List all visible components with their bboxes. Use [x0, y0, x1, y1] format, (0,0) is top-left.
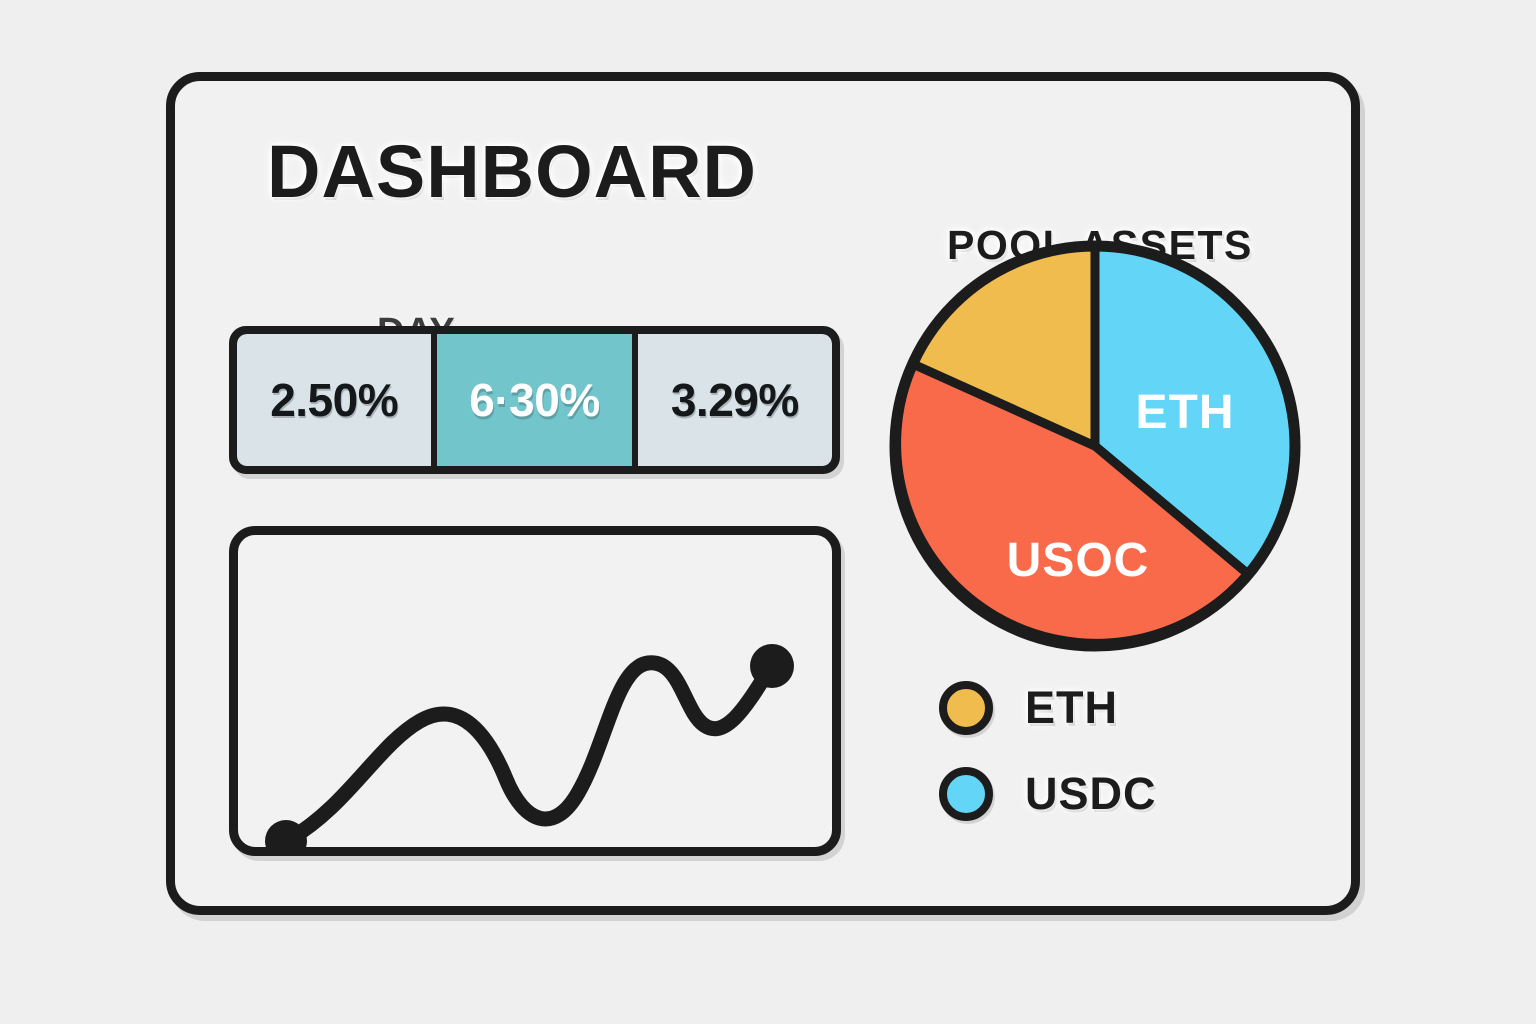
- sparkline-svg: [238, 535, 832, 847]
- legend-label-eth: ETH: [1025, 682, 1118, 734]
- pie-label-usoc: USOC: [1007, 534, 1150, 587]
- dashboard-panel: DASHBOARD DAY 2.50% 6·30% 3.29% POOL ASS…: [166, 72, 1360, 915]
- sparkline-chart-card[interactable]: [229, 526, 841, 856]
- pool-assets-pie-chart[interactable]: ETH USOC: [885, 236, 1305, 656]
- legend-swatch-usdc-icon: [939, 767, 993, 821]
- stat-segment-0[interactable]: 2.50%: [237, 334, 431, 466]
- stat-segment-1-active[interactable]: 6·30%: [437, 334, 631, 466]
- legend-item-usdc[interactable]: USDC: [939, 767, 1157, 821]
- sparkline-end-point: [750, 644, 794, 688]
- pie-svg: ETH USOC: [885, 236, 1305, 656]
- pie-legend: ETH USDC: [939, 681, 1157, 821]
- legend-swatch-eth-icon: [939, 681, 993, 735]
- legend-item-eth[interactable]: ETH: [939, 681, 1157, 735]
- sparkline-path: [290, 663, 768, 839]
- pie-label-eth: ETH: [1136, 386, 1235, 439]
- page-title: DASHBOARD: [267, 129, 757, 214]
- legend-label-usdc: USDC: [1025, 768, 1157, 820]
- stat-segment-2[interactable]: 3.29%: [638, 334, 832, 466]
- stat-segment-bar: 2.50% 6·30% 3.29%: [229, 326, 840, 474]
